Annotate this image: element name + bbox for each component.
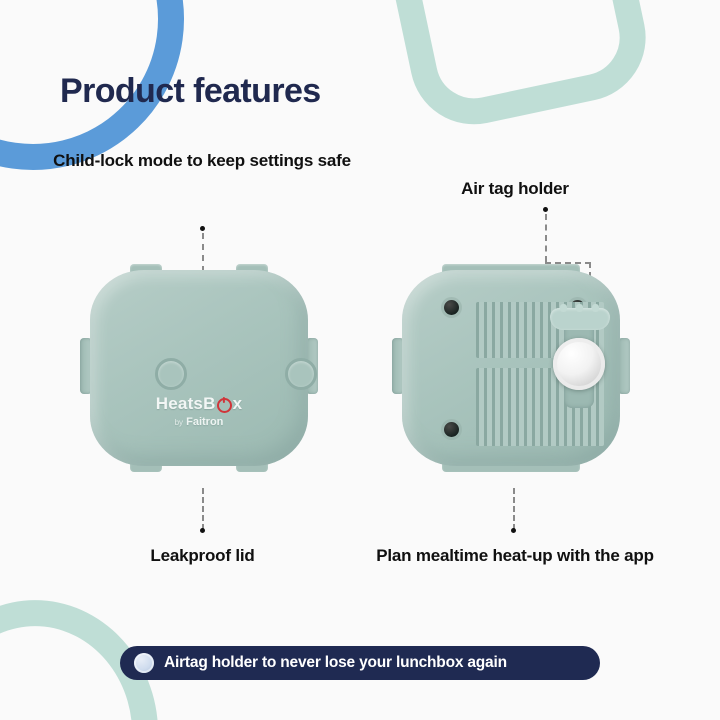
connector-dot-child-lock <box>200 226 205 231</box>
product-image-underside-view <box>380 262 642 474</box>
infographic-canvas: Product features Child-lock mode to keep… <box>0 0 720 720</box>
callout-app-planning: Plan mealtime heat-up with the app <box>370 545 660 567</box>
arc-mint-top-decoration <box>376 0 657 136</box>
lid-vent-ring-left <box>155 358 187 390</box>
page-title: Product features <box>60 72 321 111</box>
connector-dot-app <box>511 528 516 533</box>
airtag-circle-icon <box>134 653 154 673</box>
rubber-foot-top-left <box>444 300 459 315</box>
airtag-holder <box>552 308 608 412</box>
lid-surface <box>90 270 308 466</box>
connector-line-leakproof <box>202 488 204 530</box>
connector-line-app <box>513 488 515 530</box>
callout-child-lock: Child-lock mode to keep settings safe <box>42 150 362 172</box>
feature-banner: Airtag holder to never lose your lunchbo… <box>120 646 600 680</box>
callout-air-tag: Air tag holder <box>390 178 640 200</box>
connector-dot-leakproof <box>200 528 205 533</box>
clip-bump-right <box>592 304 599 312</box>
feature-banner-text: Airtag holder to never lose your lunchbo… <box>164 654 507 672</box>
product-image-lid-top-view: HeatsB x by Faitron <box>68 262 330 474</box>
callout-leakproof-lid: Leakproof lid <box>80 545 325 567</box>
connector-dot-air-tag <box>543 207 548 212</box>
clip-bump-left <box>560 304 567 312</box>
underside-surface <box>402 270 620 466</box>
connector-line-air-tag-top <box>545 214 547 262</box>
lid-vent-ring-right <box>285 358 317 390</box>
rubber-foot-bottom-left <box>444 422 459 437</box>
airtag-clip <box>550 308 610 330</box>
clip-bump-center <box>576 304 583 312</box>
airtag-disc <box>553 338 605 390</box>
